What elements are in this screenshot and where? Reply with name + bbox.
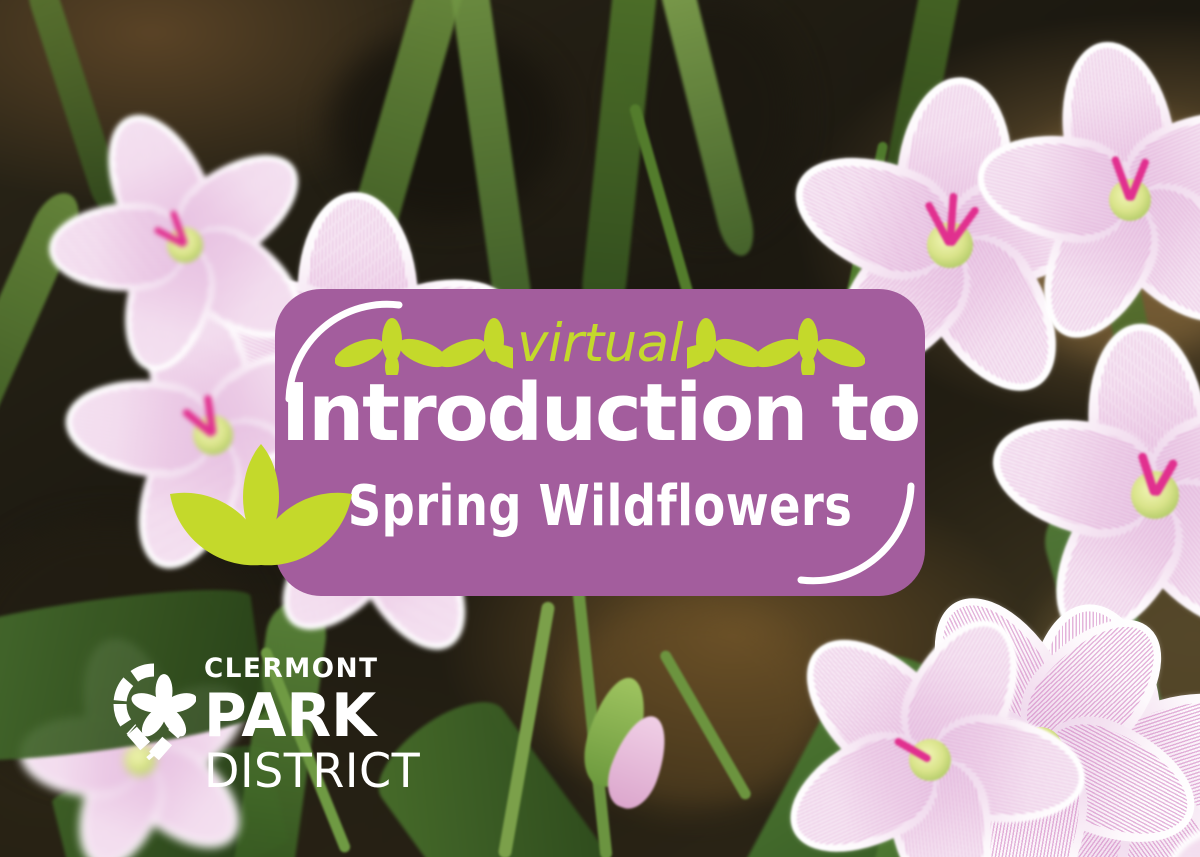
eyebrow-text: virtual bbox=[513, 317, 687, 370]
card-title: Introduction to bbox=[275, 373, 925, 454]
poster: virtual Introduction to Sprin bbox=[0, 0, 1200, 857]
card-subtitle: Spring Wildflowers bbox=[298, 478, 903, 534]
wildflower bbox=[60, 120, 310, 370]
wildflower bbox=[990, 60, 1200, 340]
title-card: virtual Introduction to Sprin bbox=[275, 289, 925, 596]
wildflower bbox=[790, 620, 1070, 857]
wildflower bbox=[1180, 720, 1200, 857]
